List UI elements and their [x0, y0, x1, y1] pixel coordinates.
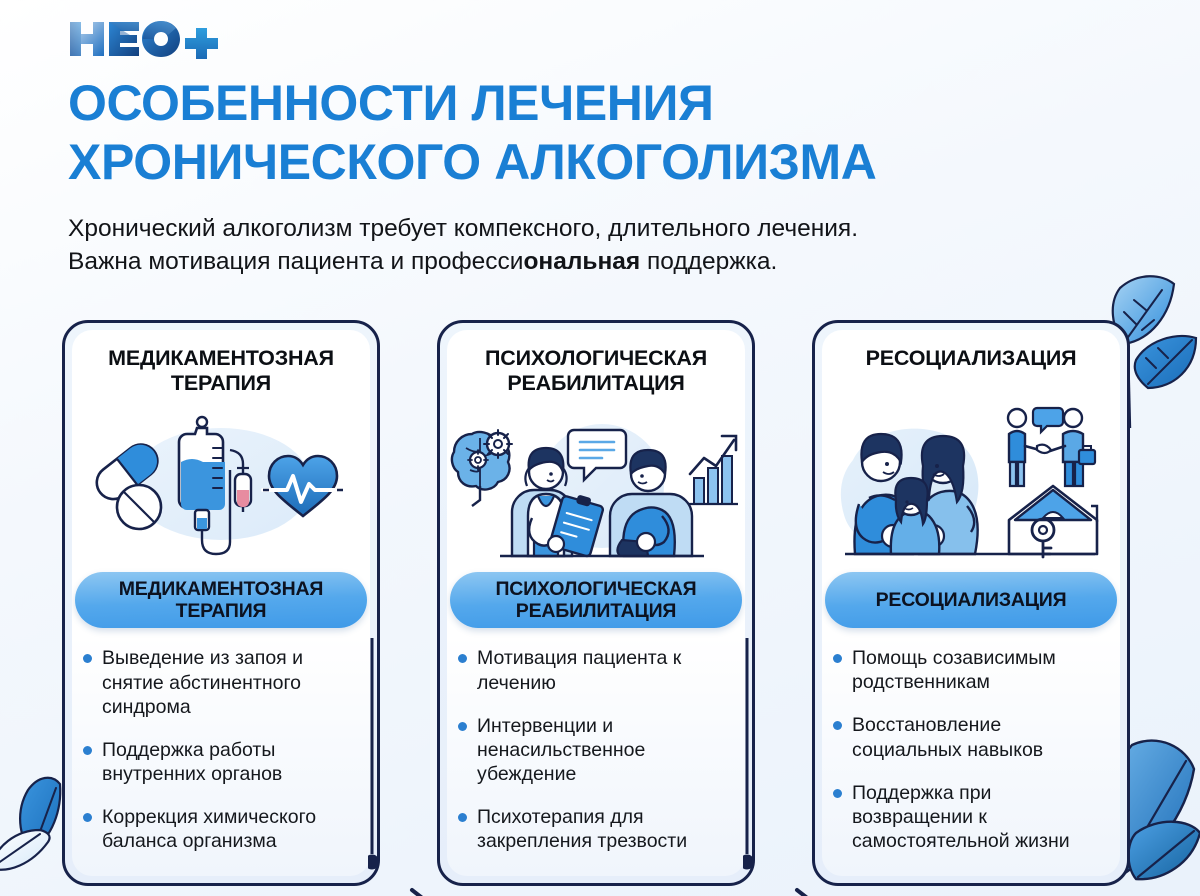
- card-art-psychology: [447, 400, 745, 568]
- card-resocialization[interactable]: РЕСОЦИАЛИЗАЦИЯ: [812, 320, 1130, 886]
- list-item: Мотивация пациента к лечению: [457, 646, 739, 694]
- card-title: МЕДИКАМЕНТОЗНАЯ ТЕРАПИЯ: [82, 346, 360, 398]
- page-subtitle: Хронический алкоголизм требует компексно…: [68, 213, 1128, 279]
- page-title-line2: ХРОНИЧЕСКОГО АЛКОГОЛИЗМА: [68, 134, 877, 190]
- card-badge[interactable]: МЕДИКАМЕНТОЗНАЯ ТЕРАПИЯ: [75, 572, 367, 628]
- connector-line-1: [368, 638, 398, 878]
- card-medication-therapy[interactable]: МЕДИКАМЕНТОЗНАЯ ТЕРАПИЯ: [62, 320, 380, 886]
- connector-line-2: [743, 638, 773, 878]
- card-title: ПСИХОЛОГИЧЕСКАЯ РЕАБИЛИТАЦИЯ: [457, 346, 735, 398]
- card-bullet-list: Выведение из запоя и снятие абстинентног…: [78, 646, 364, 853]
- page-subtitle-line2-post: поддержка.: [640, 248, 777, 275]
- cards-row: МЕДИКАМЕНТОЗНАЯ ТЕРАПИЯ: [0, 320, 1200, 896]
- card-badge[interactable]: РЕСОЦИАЛИЗАЦИЯ: [825, 572, 1117, 628]
- arrow-right-icon: [757, 860, 827, 896]
- arrow-right-icon: [372, 860, 442, 896]
- list-item: Поддержка работы внутренних органов: [82, 738, 364, 786]
- card-art-resocialization: [822, 400, 1120, 568]
- list-item: Выведение из запоя и снятие абстинентног…: [82, 646, 364, 719]
- card-art-medication: [72, 400, 370, 568]
- card-bullet-list: Мотивация пациента к лечению Интервенции…: [453, 646, 739, 853]
- card-bullet-list: Помощь созависимым родственникам Восстан…: [828, 646, 1114, 853]
- page-subtitle-line2-bold: ональная: [523, 248, 640, 275]
- list-item: Интервенции и ненасильственное убеждение: [457, 714, 739, 787]
- list-item: Психотерапия для закрепления трезвости: [457, 805, 739, 853]
- brand-logo: [68, 16, 238, 62]
- card-badge[interactable]: ПСИХОЛОГИЧЕСКАЯ РЕАБИЛИТАЦИЯ: [450, 572, 742, 628]
- page-subtitle-line1: Хронический алкоголизм требует компексно…: [68, 215, 858, 242]
- list-item: Поддержка при возвращении к самостоятель…: [832, 781, 1114, 854]
- page-title: ОСОБЕННОСТИ ЛЕЧЕНИЯ ХРОНИЧЕСКОГО АЛКОГОЛ…: [68, 74, 1148, 192]
- card-psychological-rehab[interactable]: ПСИХОЛОГИЧЕСКАЯ РЕАБИЛИТАЦИЯ: [437, 320, 755, 886]
- page-subtitle-line2-pre: Важна мотивация пациента и професси: [68, 248, 523, 275]
- list-item: Коррекция химического баланса организма: [82, 805, 364, 853]
- page-title-line1: ОСОБЕННОСТИ ЛЕЧЕНИЯ: [68, 75, 714, 131]
- list-item: Помощь созависимым родственникам: [832, 646, 1114, 694]
- list-item: Восстановление социальных навыков: [832, 713, 1114, 761]
- card-title: РЕСОЦИАЛИЗАЦИЯ: [866, 346, 1077, 398]
